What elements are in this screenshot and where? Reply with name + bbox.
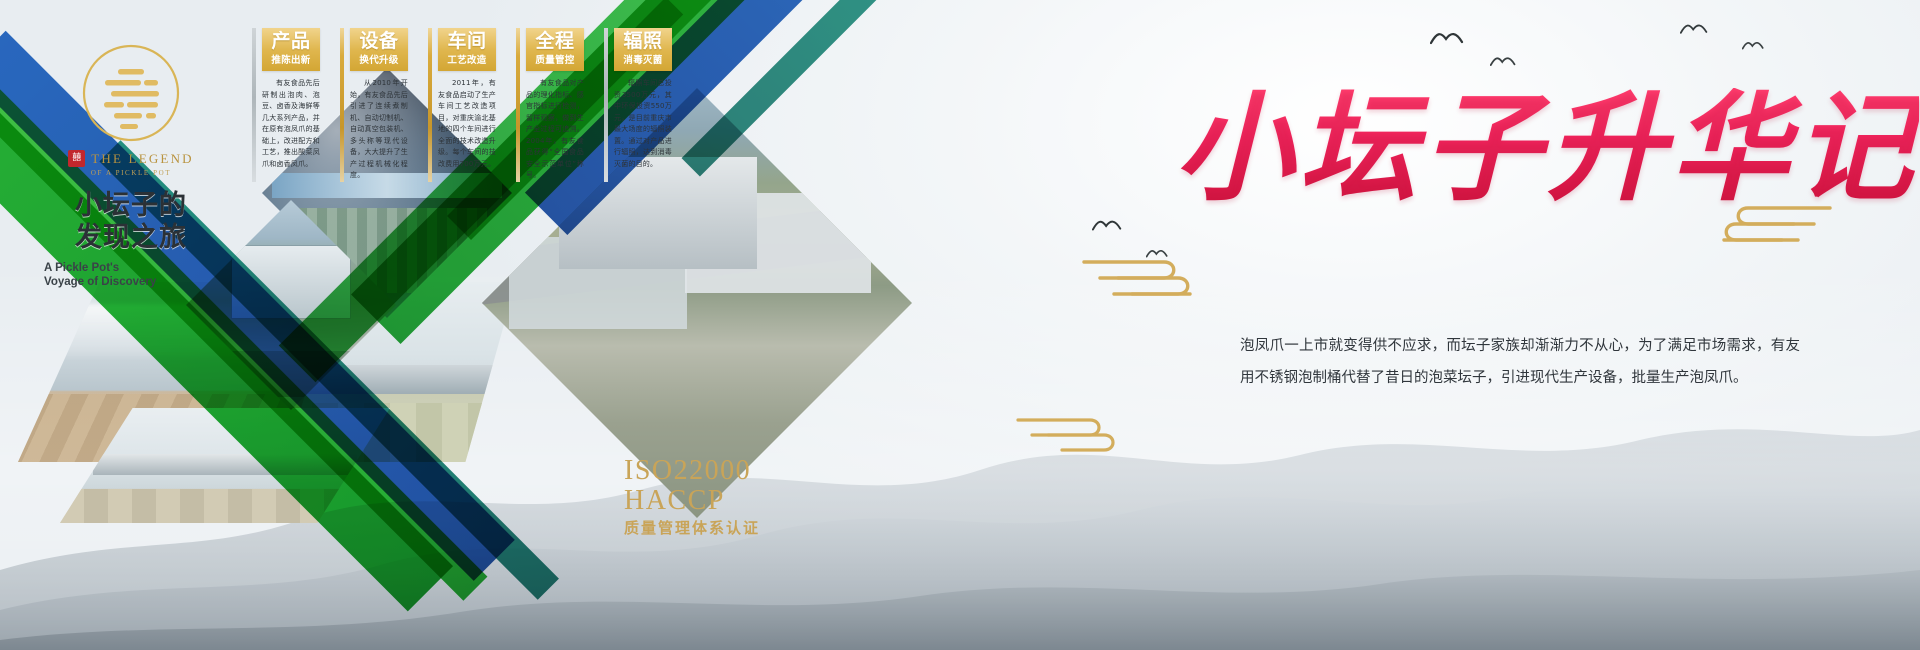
card-accent-bar [428,28,432,182]
legend-wordmark: 囍 THE LEGEND [36,150,226,167]
card-subtitle: 质量管控 [530,55,580,66]
info-card-list: 产品 推陈出新 有友食品先后研制出泡肉、泡豆、卤香及海鲜等几大系列产品，并在原有… [252,28,672,182]
card-accent-bar [604,28,608,182]
bird-icon [1742,40,1764,52]
card-title: 辐照 [618,32,668,52]
bird-icon [1490,55,1516,69]
card-subtitle: 消毒灭菌 [618,55,668,66]
bird-icon [1146,248,1168,260]
card-subtitle: 工艺改造 [442,55,492,66]
card-body: 2011年，有友食品启动了生产车间工艺改造项目，对重庆渝北基地的四个车间进行全面… [438,78,496,170]
card-header: 全程 质量管控 [526,28,584,71]
card-title: 车间 [442,32,492,52]
certification-caption: 质量管理体系认证 [624,520,760,538]
card-title: 设备 [354,32,404,52]
card-title: 产品 [266,32,316,52]
page-title-calligraphy: 小坛子升华记 [1175,88,1919,208]
brand-block: 囍 THE LEGEND OF A PICKLE POT 小坛子的 发现之旅 A… [36,42,226,289]
legend-line1: THE LEGEND [91,151,194,167]
card-body: 有友食品先后研制出泡肉、泡豆、卤香及海鲜等几大系列产品，并在原有泡凤爪的基础上，… [262,78,320,170]
info-card-quality[interactable]: 全程 质量管控 有友食品对产品的理化指标、感官指标进行检测，留样观察，做到生产全… [516,28,584,182]
card-accent-bar [252,28,256,182]
card-body: 有友食品对产品的理化指标、感官指标进行检测，留样观察，做到生产全过程可追溯。20… [526,78,584,182]
card-subtitle: 推陈出新 [266,55,316,66]
poster-canvas: 囍 THE LEGEND OF A PICKLE POT 小坛子的 发现之旅 A… [0,0,1920,650]
info-card-irradiation[interactable]: 辐照 消毒灭菌 辐照车间总投资3500万元，其中环保投资550万元，是目前重庆市… [604,28,672,182]
card-body: 辐照车间总投资3500万元，其中环保投资550万元，是目前重庆市最大场度的辐照装… [614,78,672,170]
brand-title-cn-line2: 发现之旅 [36,222,226,252]
red-seal-stamp-icon: 囍 [68,150,85,167]
card-header: 产品 推陈出新 [262,28,320,71]
story-paragraph: 泡凤爪一上市就变得供不应求，而坛子家族却渐渐力不从心，为了满足市场需求，有友用不… [1240,330,1800,394]
legend-line2: OF A PICKLE POT [36,169,226,177]
bird-icon [1092,218,1122,234]
certification-haccp: HACCP [624,486,760,516]
gold-circle-seal-icon [80,42,182,144]
card-accent-bar [516,28,520,182]
certification-block: ISO22000 HACCP 质量管理体系认证 [624,456,760,538]
card-subtitle: 换代升级 [354,55,404,66]
info-card-equipment[interactable]: 设备 换代升级 从2010年开始，有友食品先后引进了连续煮制机、自动切制机、自动… [340,28,408,182]
card-body: 从2010年开始，有友食品先后引进了连续煮制机、自动切制机、自动真空包装机、多头… [350,78,408,182]
brand-title-cn: 小坛子的 发现之旅 [36,190,226,252]
card-title: 全程 [530,32,580,52]
bird-icon [1430,30,1464,48]
card-header: 辐照 消毒灭菌 [614,28,672,71]
brand-title-cn-line1: 小坛子的 [75,190,187,220]
gold-cloud-ornament-icon [1012,408,1132,464]
gold-cloud-ornament-icon [1078,248,1208,310]
card-header: 车间 工艺改造 [438,28,496,71]
brand-title-en-line2: Voyage of Discovery [44,275,226,289]
info-card-workshop[interactable]: 车间 工艺改造 2011年，有友食品启动了生产车间工艺改造项目，对重庆渝北基地的… [428,28,496,182]
certification-iso: ISO22000 [624,456,760,486]
brand-title-en: A Pickle Pot's Voyage of Discovery [36,261,226,289]
card-header: 设备 换代升级 [350,28,408,71]
card-accent-bar [340,28,344,182]
brand-title-en-line1: A Pickle Pot's [44,261,226,275]
bird-icon [1680,22,1708,37]
info-card-product[interactable]: 产品 推陈出新 有友食品先后研制出泡肉、泡豆、卤香及海鲜等几大系列产品，并在原有… [252,28,320,182]
